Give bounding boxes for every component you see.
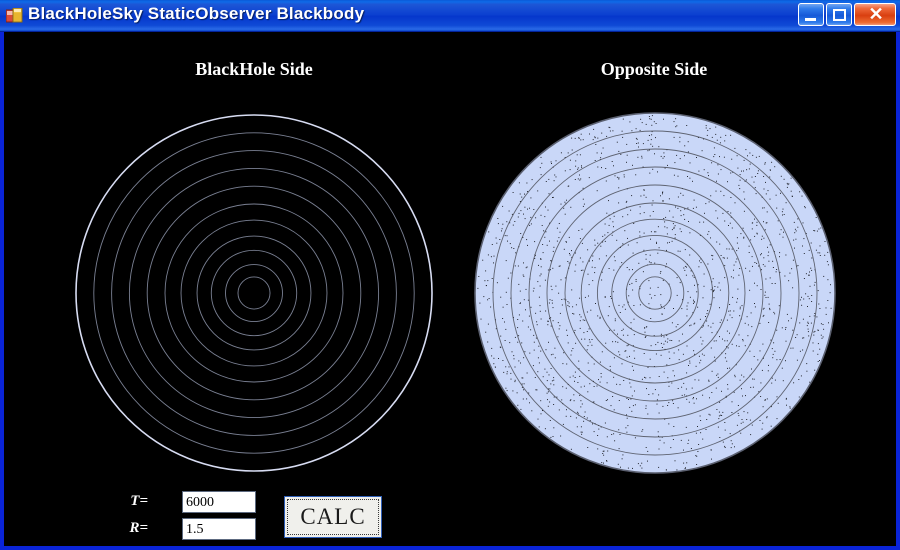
maximize-button[interactable]: [826, 3, 852, 26]
close-button[interactable]: ✕: [854, 3, 896, 26]
maximize-icon: [833, 9, 846, 21]
opposite-side-sky-disk: [463, 101, 847, 485]
application-window: BlackHoleSky StaticObserver Blackbody ✕ …: [0, 0, 900, 550]
panel-title-blackhole-side: BlackHole Side: [104, 59, 404, 80]
minimize-button[interactable]: [798, 3, 824, 26]
minimize-icon: [805, 18, 816, 21]
temperature-label: T=: [108, 493, 148, 510]
title-bar[interactable]: BlackHoleSky StaticObserver Blackbody ✕: [0, 0, 900, 32]
window-controls: ✕: [796, 3, 896, 27]
blackhole-side-sky-disk: [64, 103, 444, 483]
close-icon: ✕: [855, 4, 897, 25]
panel-title-opposite-side: Opposite Side: [504, 59, 804, 80]
client-area: BlackHole Side Opposite Side T= 6000 R= …: [4, 32, 896, 546]
radius-label: R=: [108, 520, 148, 537]
window-title: BlackHoleSky StaticObserver Blackbody: [28, 4, 364, 24]
calc-button-label: CALC: [285, 497, 381, 537]
app-window-icon: [6, 8, 23, 24]
temperature-input[interactable]: 6000: [182, 491, 256, 513]
calc-button[interactable]: CALC: [284, 496, 382, 538]
radius-input[interactable]: 1.5: [182, 518, 256, 540]
